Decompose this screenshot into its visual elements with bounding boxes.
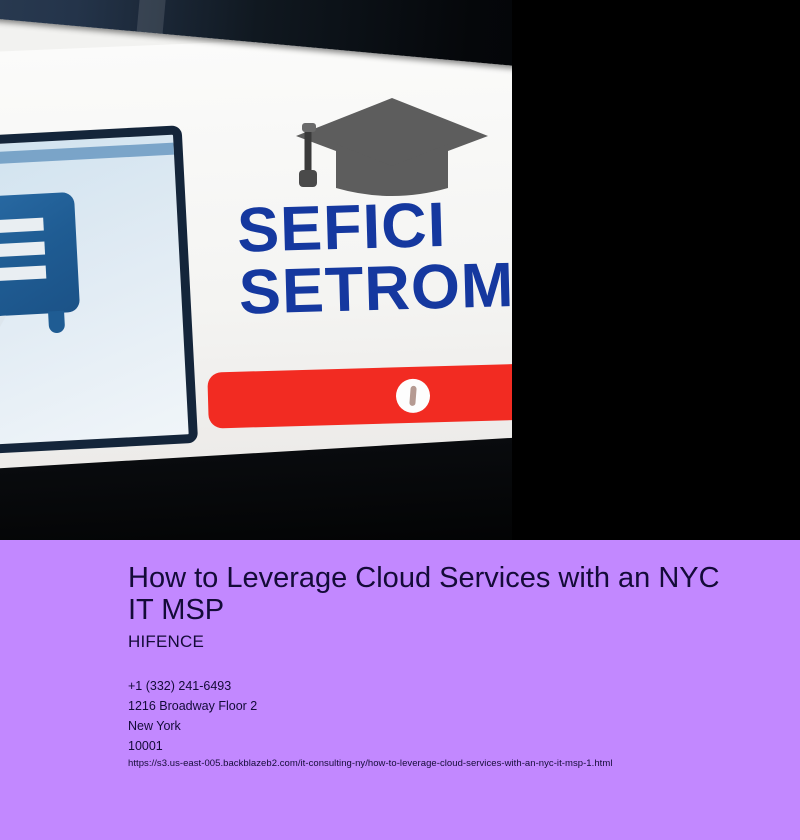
poster-cta-dot-icon [396, 378, 431, 413]
bubble-text-line [0, 242, 45, 263]
bezel-sheen [137, 0, 171, 34]
hero-photo: SEFICI SETROM [0, 0, 512, 540]
page-title: How to Leverage Cloud Services with an N… [128, 562, 728, 627]
contact-phone: +1 (332) 241-6493 [128, 676, 748, 696]
poster-headline-line-2: SETROM [238, 253, 512, 324]
poster-cta-bar [207, 363, 512, 428]
contact-block: +1 (332) 241-6493 1216 Broadway Floor 2 … [128, 676, 748, 756]
article-page: SEFICI SETROM How to Leverage Cloud Serv… [0, 0, 800, 840]
chat-bubble-icon [0, 192, 80, 321]
bubble-text-line [0, 266, 46, 287]
article-content: How to Leverage Cloud Services with an N… [0, 540, 800, 840]
brand-name: HIFENCE [128, 632, 204, 652]
bubble-text-line [0, 218, 44, 239]
tablet-illustration [0, 125, 198, 457]
hero-letterbox: SEFICI SETROM [0, 0, 800, 540]
bubble-nub [48, 311, 65, 334]
tablet-topbar [0, 143, 174, 168]
source-url[interactable]: https://s3.us-east-005.backblazeb2.com/i… [128, 758, 612, 769]
contact-address: 1216 Broadway Floor 2 [128, 696, 748, 716]
contact-city: New York [128, 716, 748, 736]
poster-headline: SEFICI SETROM [236, 191, 512, 324]
contact-postal-code: 10001 [128, 736, 748, 756]
graduation-cap-icon [292, 92, 492, 200]
glasses-icon [0, 331, 28, 431]
